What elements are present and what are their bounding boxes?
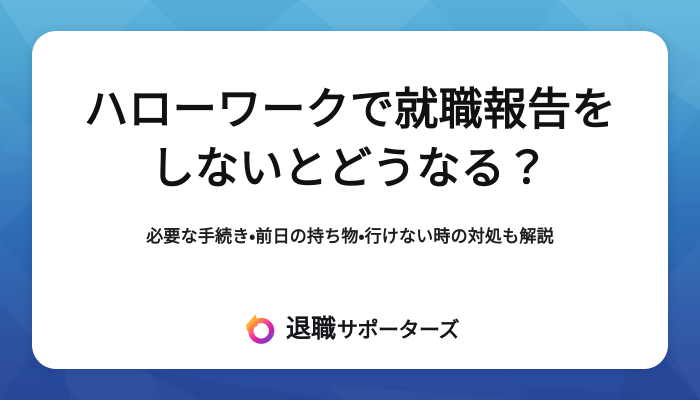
page-subtitle: 必要な手続き・前日の持ち物・行けない時の対処も解説: [146, 225, 554, 249]
page-title: ハローワークで就職報告を しないとどうなる？: [32, 81, 668, 199]
brand-logo-text: 退職 サポーターズ: [286, 317, 459, 342]
brand-logo: 退職 サポーターズ: [241, 311, 459, 347]
content-card: ハローワークで就職報告を しないとどうなる？ 必要な手続き・前日の持ち物・行けな…: [32, 31, 668, 369]
thumbnail-canvas: ハローワークで就職報告を しないとどうなる？ 必要な手続き・前日の持ち物・行けな…: [0, 0, 700, 400]
gradient-ring-icon: [241, 311, 277, 347]
brand-logo-kana: サポーターズ: [337, 320, 459, 341]
title-line-1: ハローワークで就職報告を: [46, 81, 654, 140]
title-line-2: しないとどうなる？: [46, 140, 654, 199]
brand-logo-kanji: 退職: [286, 317, 336, 342]
